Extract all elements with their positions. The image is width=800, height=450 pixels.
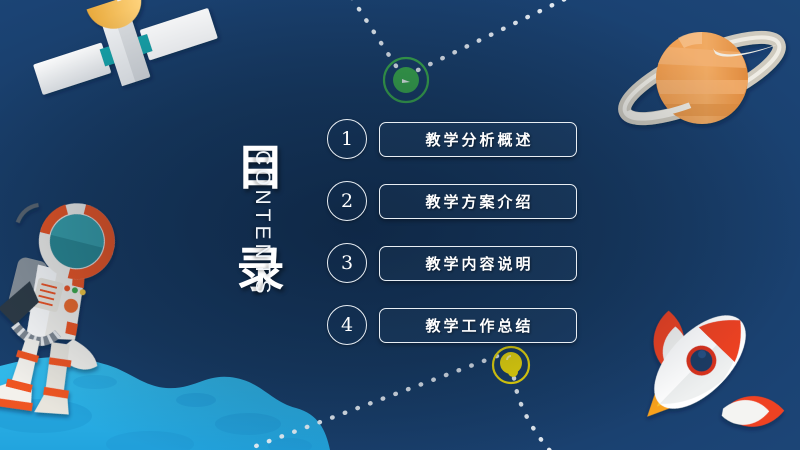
menu-box-1[interactable]: 教学分析概述	[379, 122, 577, 157]
menu-item-3[interactable]: 3 教学内容说明	[327, 232, 577, 294]
menu-item-2[interactable]: 2 教学方案介绍	[327, 170, 577, 232]
menu-item-1[interactable]: 1 教学分析概述	[327, 108, 577, 170]
menu-item-4[interactable]: 4 教学工作总结	[327, 294, 577, 356]
menu-label-1: 教学分析概述	[422, 129, 533, 150]
menu-number-1: 1	[327, 119, 367, 159]
satellite	[8, 0, 223, 110]
contents-slide: 目 录 CONTENTS 1 教学分析概述 2 教学方案介绍 3 教学内容说明 …	[0, 0, 800, 450]
menu-box-4[interactable]: 教学工作总结	[379, 308, 577, 343]
menu-label-4: 教学工作总结	[422, 315, 533, 336]
contents-menu: 1 教学分析概述 2 教学方案介绍 3 教学内容说明 4 教学工作总结	[327, 108, 577, 356]
menu-number-4: 4	[327, 305, 367, 345]
green-node	[384, 58, 428, 102]
menu-label-2: 教学方案介绍	[422, 191, 533, 212]
title-en: CONTENTS	[250, 150, 274, 298]
menu-box-2[interactable]: 教学方案介绍	[379, 184, 577, 219]
menu-number-3: 3	[327, 243, 367, 283]
saturn-planet	[616, 22, 789, 134]
menu-label-3: 教学内容说明	[422, 253, 533, 274]
rocket	[605, 280, 800, 450]
menu-box-3[interactable]: 教学内容说明	[379, 246, 577, 281]
menu-number-2: 2	[327, 181, 367, 221]
